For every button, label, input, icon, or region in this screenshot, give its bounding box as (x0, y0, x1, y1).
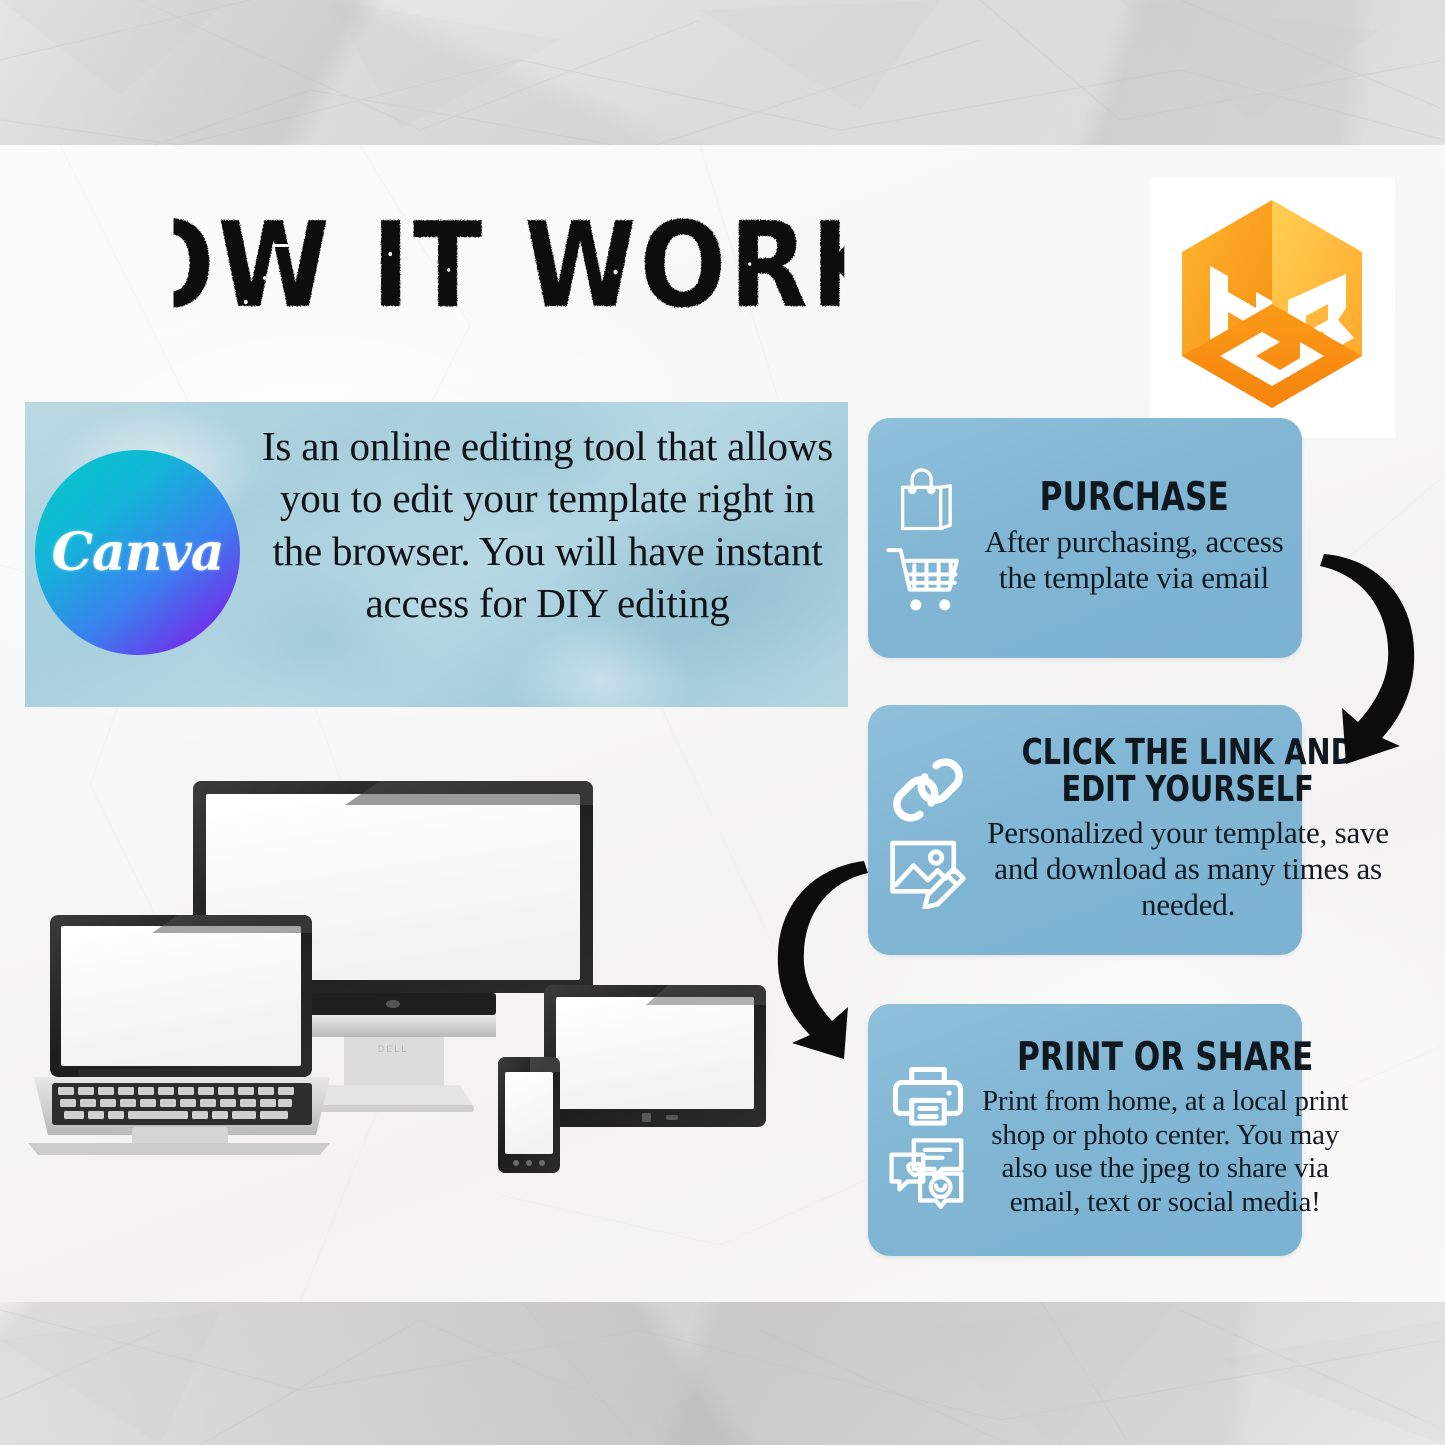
laptop-device (28, 915, 330, 1155)
step-card-print[interactable]: PRINT OR SHARE Print from home, at a loc… (868, 1004, 1302, 1256)
hrg-logo (1150, 178, 1395, 438)
smartphone-device (498, 1057, 560, 1173)
canva-wordmark: Canva (52, 522, 224, 583)
printer-icon (888, 1050, 968, 1128)
link-chain-icon (887, 751, 969, 829)
page-title-art: HOW IT WORKS (140, 214, 870, 334)
arrow-purchase-to-edit-art (1296, 532, 1445, 770)
shopping-bag-icon (890, 462, 966, 538)
shopping-cart-icon (885, 544, 971, 614)
social-share-icon (885, 1134, 971, 1210)
purchase-title: PURCHASE (1039, 478, 1228, 518)
purchase-body: PURCHASE After purchasing, access the te… (980, 418, 1302, 658)
hrg-cube (1182, 200, 1362, 408)
device-mockup-art: DELL (28, 775, 768, 1185)
image-edit-icon (886, 835, 970, 909)
canva-info-block: Canva Is an online editing tool that all… (25, 402, 848, 707)
device-mockup-image: DELL (28, 775, 768, 1185)
poster-root: HOW IT WORKS (0, 0, 1445, 1445)
print-title: PRINT OR SHARE (1017, 1038, 1313, 1078)
step-card-edit[interactable]: CLICK THE LINK AND EDIT YOURSELF Persona… (868, 705, 1302, 955)
page-title: HOW IT WORKS (140, 214, 870, 334)
canva-description: Is an online editing tool that allows yo… (255, 420, 840, 630)
page-title-text: HOW IT WORKS (40, 197, 970, 334)
arrow-edit-to-print-art (752, 843, 892, 1061)
step-card-purchase[interactable]: PURCHASE After purchasing, access the te… (868, 418, 1302, 658)
svg-text:DELL: DELL (378, 1044, 409, 1054)
print-body: PRINT OR SHARE Print from home, at a loc… (980, 1004, 1364, 1256)
arrow-edit-to-print (752, 843, 892, 1061)
tablet-device (544, 985, 766, 1127)
print-description: Print from home, at a local print shop o… (980, 1085, 1350, 1220)
arrow-purchase-to-edit (1296, 532, 1445, 770)
purchase-icons (868, 418, 980, 658)
purchase-description: After purchasing, access the template vi… (980, 524, 1288, 596)
edit-title-line2: EDIT YOURSELF (1062, 772, 1314, 809)
edit-description: Personalized your template, save and dow… (980, 815, 1396, 923)
hrg-logo-art (1150, 178, 1395, 438)
canva-logo-icon: Canva (35, 450, 240, 655)
